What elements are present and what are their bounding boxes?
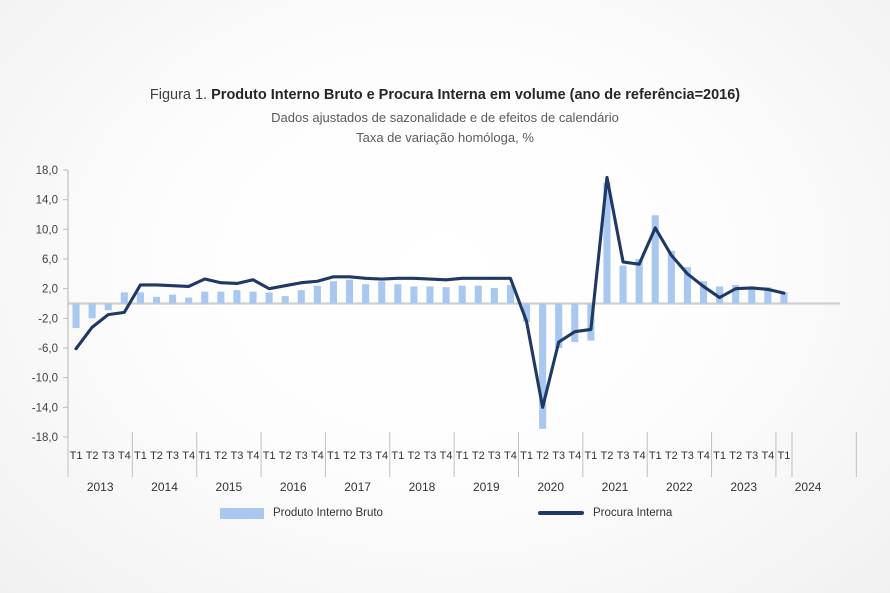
bar-series [73, 183, 788, 429]
x-tick-quarter: T4 [633, 450, 646, 462]
bar [201, 292, 208, 304]
bar [73, 304, 80, 328]
x-tick-quarter: T4 [247, 450, 260, 462]
x-axis-year-label: 2022 [666, 480, 693, 494]
x-axis-year-label: 2023 [730, 480, 757, 494]
x-tick-quarter: T3 [681, 450, 694, 462]
x-tick-quarter: T1 [713, 450, 726, 462]
x-tick-quarter: T1 [198, 450, 211, 462]
x-tick-quarter: T3 [617, 450, 630, 462]
x-tick-quarter: T3 [231, 450, 244, 462]
x-axis-year-label: 2020 [537, 480, 564, 494]
bar [185, 298, 192, 304]
x-tick-quarter: T1 [456, 450, 469, 462]
y-tick-label: -18,0 [32, 432, 58, 444]
x-tick-quarter: T1 [520, 450, 533, 462]
x-axis-year-label: 2024 [795, 480, 822, 494]
legend-item-pib[interactable]: Produto Interno Bruto [220, 507, 383, 519]
bar [410, 286, 417, 303]
x-tick-quarter: T3 [359, 450, 372, 462]
x-tick-quarter: T2 [472, 450, 485, 462]
bar [571, 304, 578, 343]
x-tick-quarter: T2 [86, 450, 99, 462]
bar [394, 284, 401, 303]
x-tick-quarter: T2 [729, 450, 742, 462]
bar [443, 287, 450, 303]
y-tick-label: -10,0 [32, 373, 58, 385]
bar [362, 284, 369, 303]
bar [314, 286, 321, 304]
legend-swatch-line [538, 511, 584, 515]
bar [346, 280, 353, 304]
legend-swatch-bar [220, 508, 264, 519]
x-tick-quarter: T2 [536, 450, 549, 462]
x-axis-year-label: 2015 [216, 480, 243, 494]
bar [89, 304, 96, 319]
x-tick-quarter: T1 [327, 450, 340, 462]
x-axis-year-label: 2021 [602, 480, 629, 494]
x-tick-quarter: T1 [263, 450, 276, 462]
y-tick-label: 2,0 [42, 284, 58, 296]
x-tick-quarter: T4 [697, 450, 710, 462]
y-tick-label: -14,0 [32, 402, 58, 414]
y-tick-label: 18,0 [36, 165, 58, 177]
x-tick-quarter: T3 [552, 450, 565, 462]
x-tick-quarter: T1 [584, 450, 597, 462]
x-tick-quarter: T4 [504, 450, 517, 462]
legend-item-procura-interna[interactable]: Procura Interna [538, 507, 672, 519]
x-tick-quarter: T4 [118, 450, 131, 462]
y-tick-label: 6,0 [42, 254, 58, 266]
y-tick-label: -6,0 [38, 343, 58, 355]
x-tick-quarter: T1 [70, 450, 83, 462]
x-tick-quarter: T2 [407, 450, 420, 462]
x-tick-quarter: T3 [424, 450, 437, 462]
bar [475, 286, 482, 304]
y-axis-ticks [63, 170, 68, 437]
x-tick-quarter: T1 [778, 450, 791, 462]
bar [748, 288, 755, 304]
x-tick-quarter: T4 [761, 450, 774, 462]
x-axis-year-label: 2013 [87, 480, 114, 494]
y-tick-label: 14,0 [36, 195, 58, 207]
x-tick-quarter: T3 [488, 450, 501, 462]
legend-label-pib: Produto Interno Bruto [273, 507, 383, 519]
x-tick-quarter: T2 [601, 450, 614, 462]
x-axis-year-label: 2019 [473, 480, 500, 494]
y-tick-label: -2,0 [38, 313, 58, 325]
x-axis-year-label: 2016 [280, 480, 307, 494]
bar [233, 290, 240, 303]
bar [539, 304, 546, 429]
x-tick-quarter: T3 [295, 450, 308, 462]
x-tick-quarter: T4 [440, 450, 453, 462]
chart-legend: Produto Interno Bruto Procura Interna [0, 505, 890, 529]
x-tick-quarter: T1 [134, 450, 147, 462]
x-axis-year-label: 2014 [151, 480, 178, 494]
y-axis-labels: 18,014,010,06,02,0-2,0-6,0-10,0-14,0-18,… [32, 165, 58, 444]
x-tick-quarter: T2 [343, 450, 356, 462]
x-tick-quarter: T1 [649, 450, 662, 462]
x-tick-quarter: T2 [279, 450, 292, 462]
x-tick-quarter: T1 [391, 450, 404, 462]
bar [459, 286, 466, 304]
bar [491, 288, 498, 304]
x-axis-year-label: 2018 [409, 480, 436, 494]
bar [266, 292, 273, 303]
bar [378, 281, 385, 303]
bar [121, 292, 128, 303]
x-tick-quarter: T4 [375, 450, 388, 462]
x-tick-quarter: T3 [166, 450, 179, 462]
x-tick-quarter: T2 [214, 450, 227, 462]
x-tick-quarter: T3 [745, 450, 758, 462]
bar [298, 290, 305, 303]
x-tick-quarter: T2 [665, 450, 678, 462]
bar [620, 266, 627, 304]
figure-container: Figura 1. Produto Interno Bruto e Procur… [0, 0, 890, 593]
bar [105, 304, 112, 311]
bar [217, 292, 224, 304]
x-axis-year-label: 2017 [344, 480, 371, 494]
legend-label-procura: Procura Interna [593, 507, 672, 519]
bar [330, 281, 337, 303]
x-tick-quarter: T3 [102, 450, 115, 462]
x-axis-years: 2013201420152016201720182019202020212022… [87, 480, 822, 494]
bar [169, 295, 176, 304]
x-axis-quarters: T1T2T3T4T1T2T3T4T1T2T3T4T1T2T3T4T1T2T3T4… [70, 450, 791, 462]
bar [137, 292, 144, 303]
y-tick-label: 10,0 [36, 224, 58, 236]
x-tick-quarter: T4 [182, 450, 195, 462]
bar [426, 286, 433, 303]
bar [249, 292, 256, 304]
bar [282, 296, 289, 303]
x-tick-quarter: T2 [150, 450, 163, 462]
x-tick-quarter: T4 [311, 450, 324, 462]
x-tick-quarter: T4 [568, 450, 581, 462]
bar [153, 297, 160, 304]
